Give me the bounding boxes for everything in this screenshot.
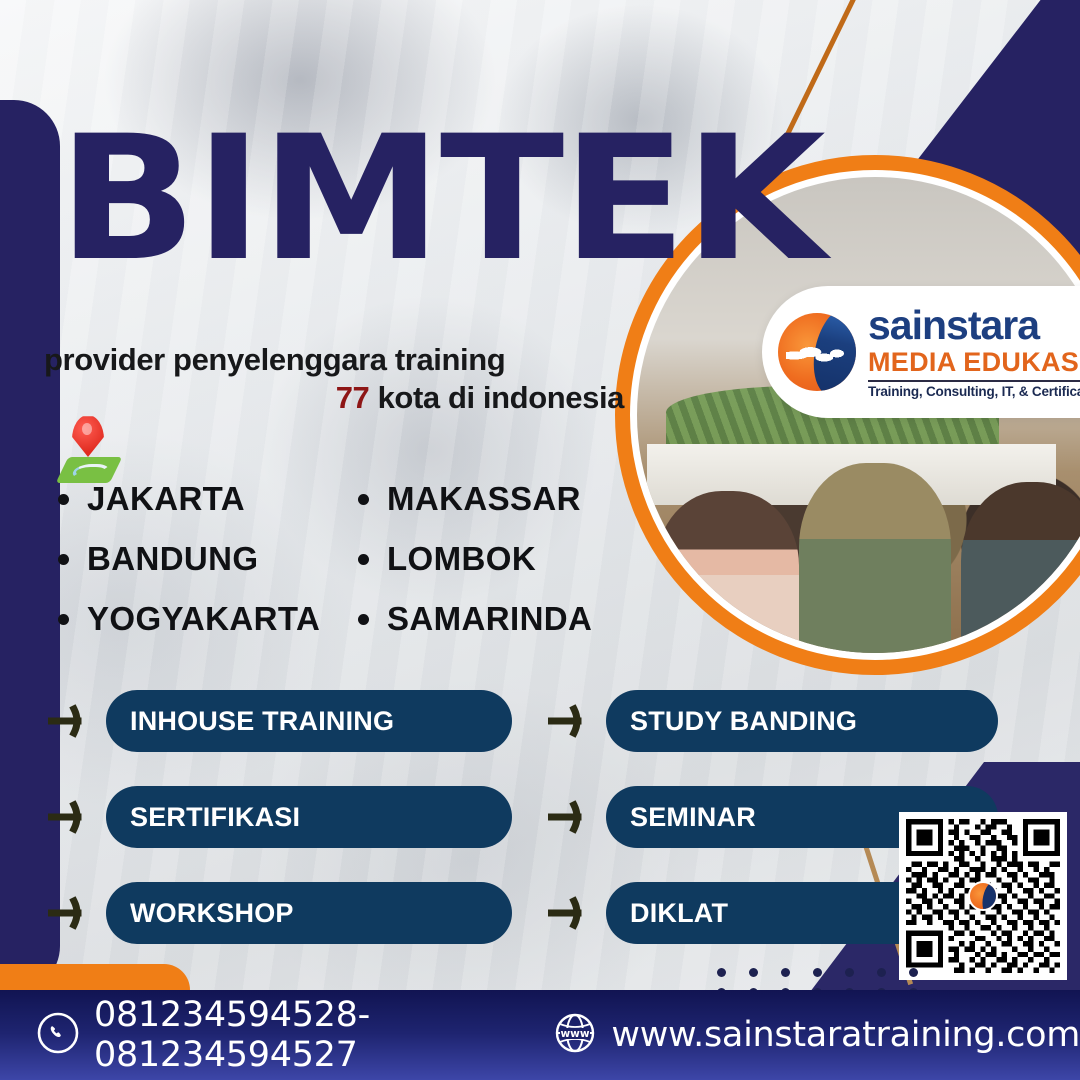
service-item-study-banding[interactable]: STUDY BANDING (548, 690, 998, 752)
website-url: www.sainstaratraining.com (611, 1015, 1080, 1055)
photo-person-center (799, 463, 951, 653)
arrow-right-icon (548, 893, 594, 933)
city-count-highlight: 77 (336, 380, 370, 415)
tagline-line-2-rest: kota di indonesia (369, 380, 624, 415)
list-item: MAKASSAR (358, 480, 618, 518)
qr-canvas (906, 819, 1060, 973)
city-label: YOGYAKARTA (87, 600, 320, 638)
pin-drop-shape (72, 415, 104, 457)
city-label: MAKASSAR (387, 480, 581, 518)
list-item: LOMBOK (358, 540, 618, 578)
bullet-icon (58, 554, 69, 565)
sainstara-emblem-icon (778, 313, 856, 391)
bullet-icon (58, 494, 69, 505)
bullet-icon (58, 614, 69, 625)
service-item-inhouse-training[interactable]: INHOUSE TRAINING (48, 690, 548, 752)
bullet-icon (358, 554, 369, 565)
logo-tagline: Training, Consulting, IT, & Certificatio… (868, 385, 1080, 399)
qr-code[interactable] (899, 812, 1067, 980)
page-title: BIMTEK (58, 120, 824, 278)
city-list: JAKARTA MAKASSAR BANDUNG LOMBOK YOGYAKAR… (58, 480, 618, 638)
list-item: YOGYAKARTA (58, 600, 358, 638)
contact-website[interactable]: www www.sainstaratraining.com (553, 1011, 1080, 1060)
list-item: BANDUNG (58, 540, 358, 578)
promotional-poster: sainstara MEDIA EDUKASI Training, Consul… (0, 0, 1080, 1080)
phone-number: 081234594528-081234594527 (94, 995, 509, 1075)
photo-person-right (961, 482, 1080, 653)
arrow-right-icon (48, 701, 94, 741)
tagline-line-2: 77 kota di indonesia (44, 380, 624, 416)
indonesia-archipelago-icon (786, 347, 844, 364)
decor-orange-footer-accent (0, 964, 190, 990)
phone-icon (36, 1011, 80, 1060)
bullet-icon (358, 614, 369, 625)
tagline-line-1: provider penyelenggara training (44, 342, 505, 378)
logo-title: sainstara (868, 305, 1080, 346)
bullet-icon (358, 494, 369, 505)
service-item-workshop[interactable]: WORKSHOP (48, 882, 548, 944)
logo-text-block: sainstara MEDIA EDUKASI Training, Consul… (868, 305, 1080, 399)
globe-www-icon: www (553, 1011, 597, 1060)
city-label: BANDUNG (87, 540, 258, 578)
footer-bar: 081234594528-081234594527 www www.sainst… (0, 990, 1080, 1080)
service-label[interactable]: SERTIFIKASI (106, 786, 512, 848)
service-item-sertifikasi[interactable]: SERTIFIKASI (48, 786, 548, 848)
city-label: LOMBOK (387, 540, 536, 578)
contact-phone[interactable]: 081234594528-081234594527 (36, 995, 509, 1075)
list-item: SAMARINDA (358, 600, 618, 638)
service-list: INHOUSE TRAINING STUDY BANDING SERTIFIKA… (48, 690, 998, 944)
service-label[interactable]: STUDY BANDING (606, 690, 998, 752)
arrow-right-icon (548, 797, 594, 837)
arrow-right-icon (548, 701, 594, 741)
arrow-right-icon (48, 797, 94, 837)
logo-divider (868, 380, 1080, 382)
svg-text:www: www (561, 1028, 590, 1040)
qr-center-emblem-icon (968, 881, 998, 911)
list-item: JAKARTA (58, 480, 358, 518)
city-label: SAMARINDA (387, 600, 592, 638)
map-pin-icon (58, 415, 120, 485)
photo-person-left (656, 491, 799, 653)
service-label[interactable]: WORKSHOP (106, 882, 512, 944)
company-logo: sainstara MEDIA EDUKASI Training, Consul… (762, 286, 1080, 418)
arrow-right-icon (48, 893, 94, 933)
city-label: JAKARTA (87, 480, 245, 518)
logo-subtitle: MEDIA EDUKASI (868, 349, 1080, 376)
service-label[interactable]: INHOUSE TRAINING (106, 690, 512, 752)
